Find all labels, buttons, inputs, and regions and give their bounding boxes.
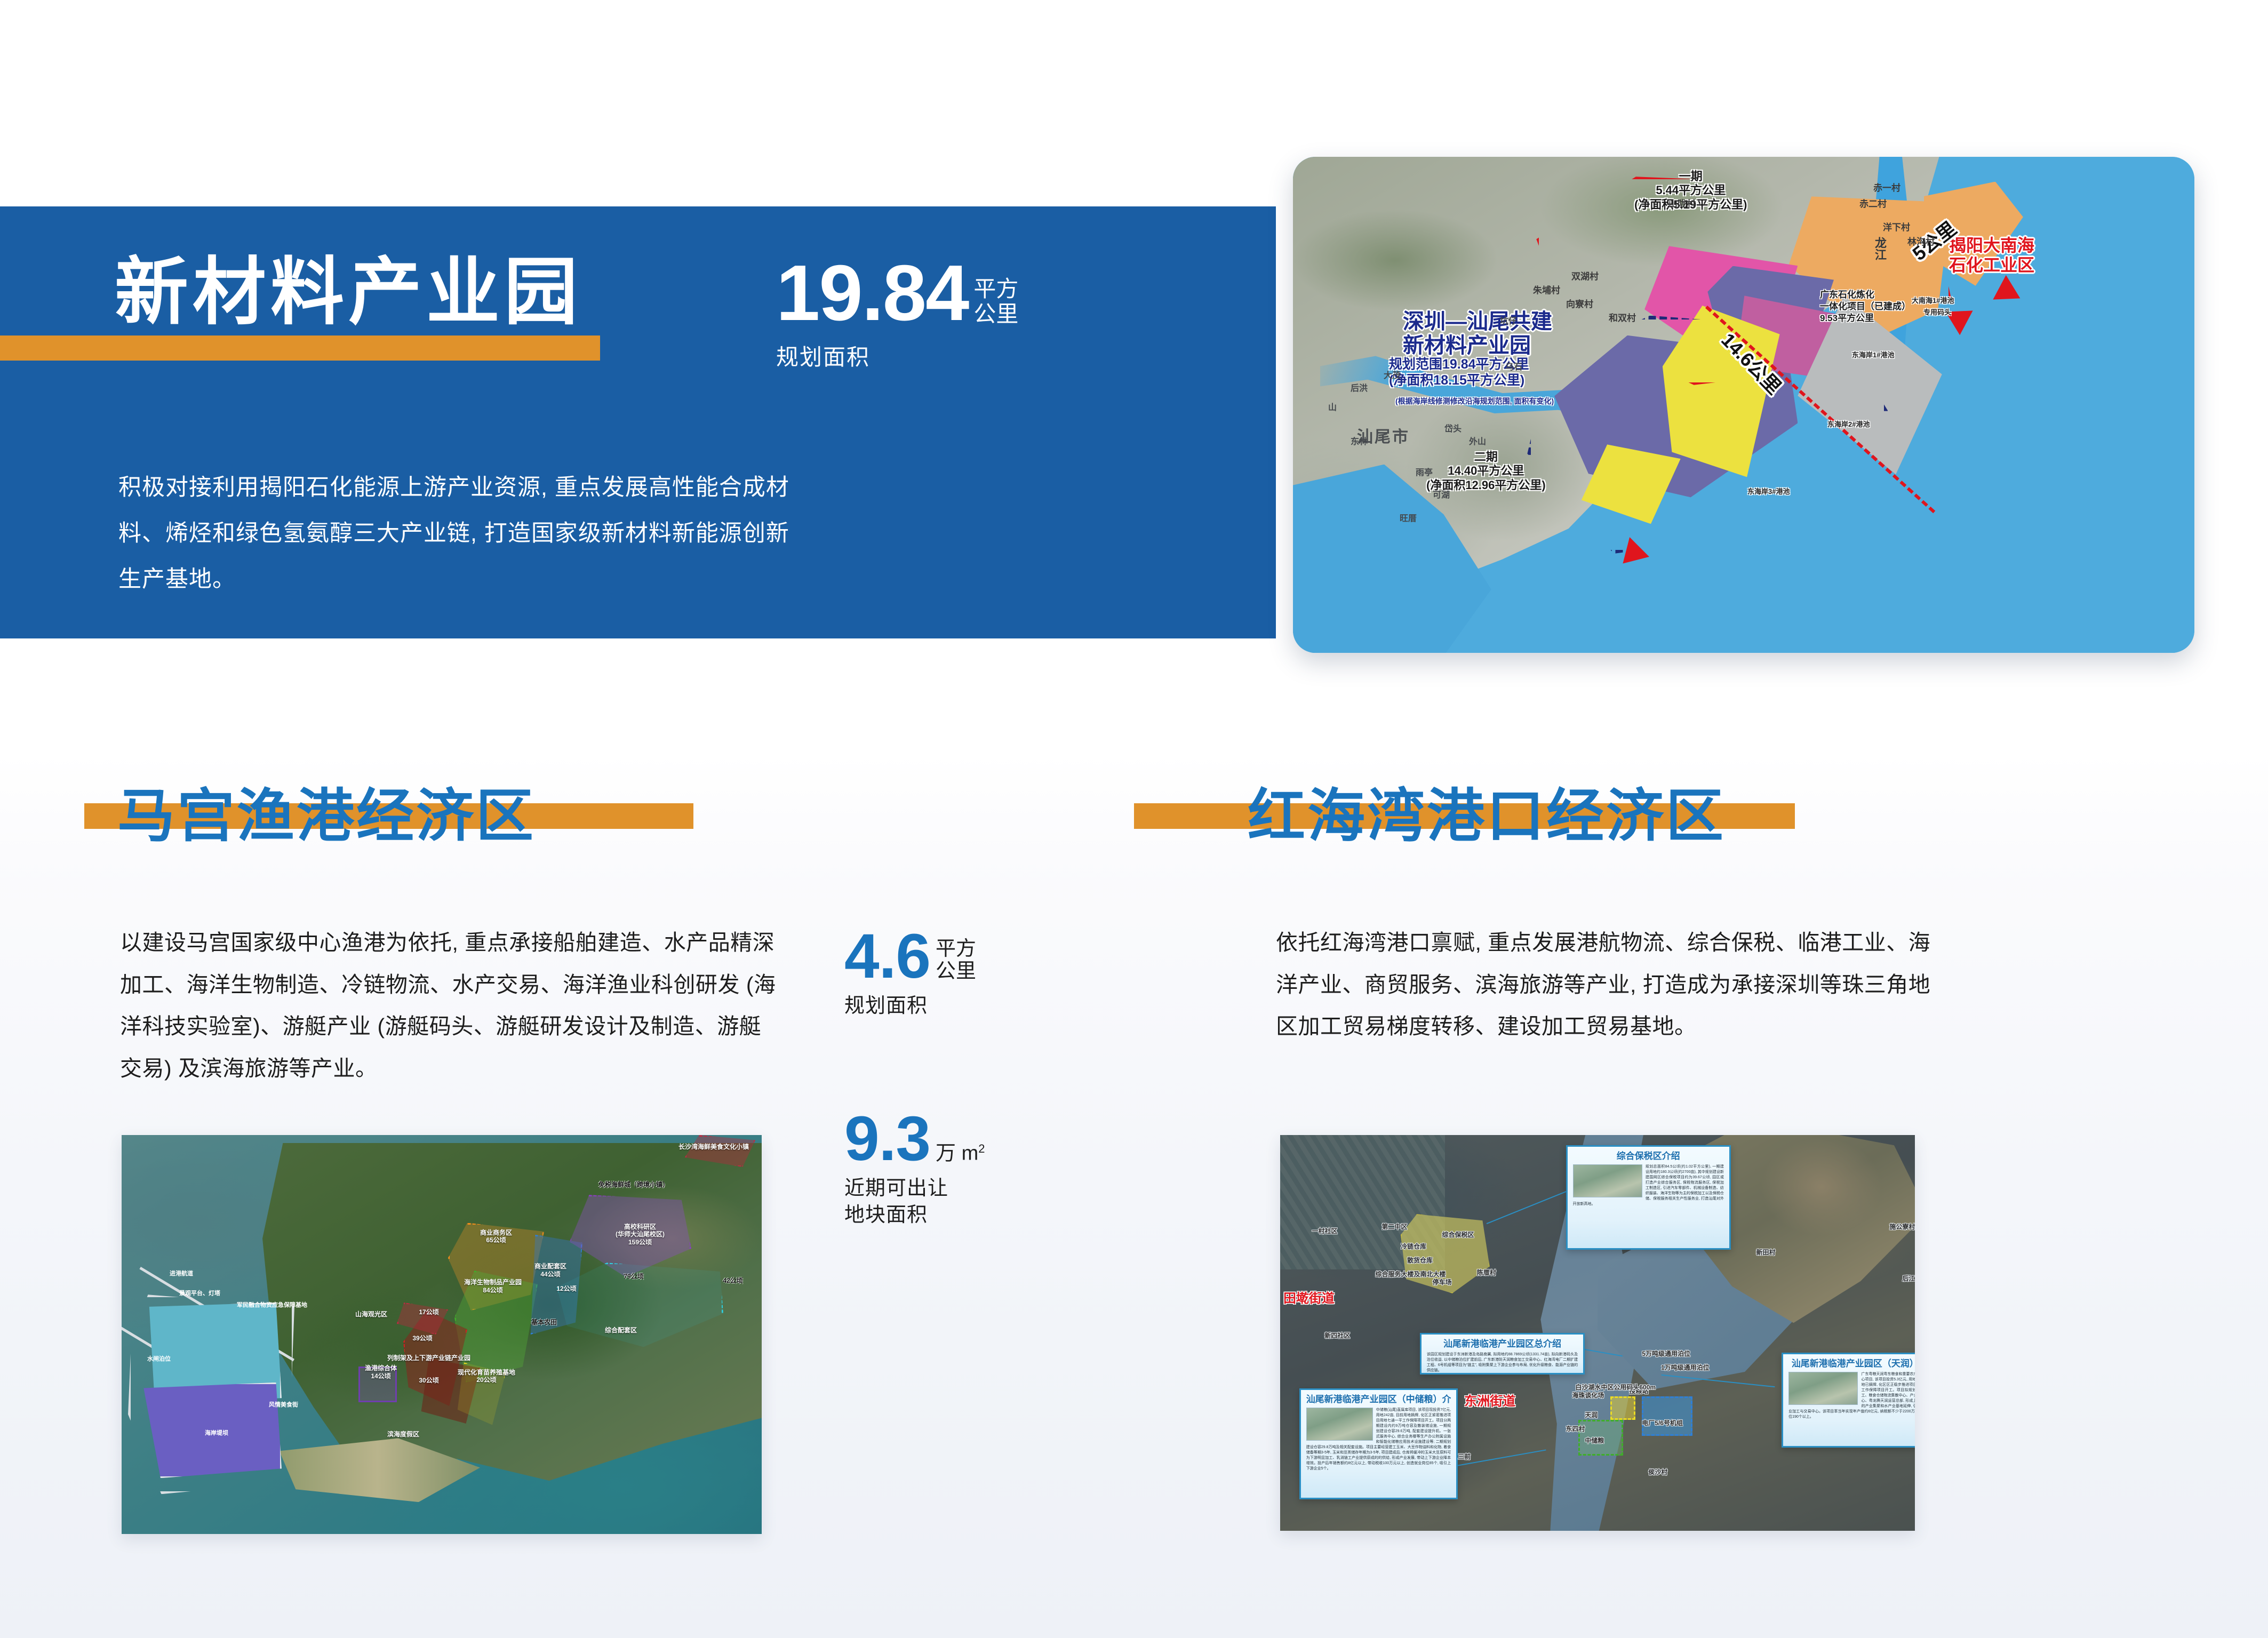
map-zone-label: 基本农田	[512, 1319, 576, 1327]
map-zone-label: 海洋生物制品产业园 84公顷	[442, 1279, 544, 1294]
map-label-village: 赤二村	[1859, 196, 1887, 210]
map-facility-label: 停车场	[1433, 1277, 1452, 1287]
map-zone-label: 山海观光区	[339, 1311, 403, 1319]
map-village-label: 陈厝村	[1477, 1268, 1496, 1277]
honghaiwan-plan-map[interactable]: 综合保税区介绍 规划总面积84.5公顷(约1.02平方公里), 一期建设用地约1…	[1280, 1135, 1915, 1531]
map-village-label: 新四社区	[1324, 1331, 1350, 1340]
stat-caption: 规划面积	[844, 993, 976, 1019]
petrochem-line2: 石化工业区	[1949, 255, 2034, 275]
map-zone-label: 列制架及上下游产业链产业园	[384, 1354, 474, 1362]
map-label-village: 洋下村	[1883, 220, 1910, 233]
zone-power-plant	[1642, 1396, 1692, 1436]
map-label-main-title: 深圳—汕尾共建 新材料产业园	[1403, 310, 1552, 358]
map-zone-label: 高校科研区 (华师大汕尾校区) 159公顷	[582, 1223, 698, 1247]
map-label-place: 山	[1328, 400, 1337, 413]
map-label-petrochem-zone: 揭阳大南海 石化工业区	[1949, 236, 2034, 275]
refinery-line1: 广东石化炼化	[1820, 290, 1874, 300]
section-heading-magong: 马宫渔港经济区	[0, 741, 773, 848]
map-label-place: 后洪	[1351, 381, 1368, 394]
stat-available-land-magong: 9.3 万 m2 近期可出让 地块面积	[844, 1109, 985, 1228]
map-village-label: 东四村	[1566, 1424, 1585, 1433]
map-other-label: 长沙湾海鲜美食文化小镇	[672, 1143, 755, 1151]
refinery-line3: 9.53平方公里	[1820, 313, 1874, 323]
info-card-title: 汕尾新港临港产业园区（中储粮）介绍	[1306, 1394, 1451, 1405]
map-facility-label: 综合保税区	[1442, 1230, 1474, 1239]
hero-stat-block: 19.84 平方 公里 规划面积	[776, 254, 1149, 372]
map-zone-label: 17公顷	[406, 1308, 451, 1316]
hero-title-block: 新材料产业园	[115, 255, 861, 389]
map-label-place: 乌石	[1505, 359, 1522, 372]
map-label-harbor: 东海岸3#港池	[1747, 488, 1790, 496]
map-zone-label: 商业配套区 44公顷	[518, 1263, 582, 1278]
section-body-text: 以建设马宫国家级中心渔港为依托, 重点承接船舶建造、水产品精深加工、海洋生物制造…	[120, 922, 776, 1090]
map-label-village: 和双村	[1609, 310, 1636, 324]
hero-map-canvas: 揭阳大南海 石化工业区 深圳—汕尾共建 新材料产业园 规划范围19.84平方公里…	[1293, 157, 2194, 653]
hero-stat-unit-line2: 公里	[973, 301, 1018, 326]
stat-planned-area-magong: 4.6 平方 公里 规划面积	[844, 927, 976, 1019]
map-village-label: 一村社区	[1312, 1226, 1338, 1235]
map-facility-label: 电厂5/6号机组	[1642, 1418, 1683, 1427]
map-other-label: 进港航道	[170, 1269, 193, 1277]
stat-unit-line2: 公里	[936, 960, 976, 982]
map-facility-label: 海珠谈化场	[1572, 1391, 1604, 1400]
phase2-line1: 二期	[1474, 450, 1498, 464]
map-other-label: 军民融合物资应急保障基地	[237, 1300, 307, 1309]
info-card-sinograin[interactable]: 汕尾新港临港产业园区（中储粮）介绍 中储粮(汕尾)直属库项目, 该项目现投资7亿…	[1299, 1388, 1458, 1499]
phase1-line2: 5.44平方公里	[1656, 183, 1726, 197]
map-label-place: 岱头	[1444, 421, 1462, 434]
map-other-label: 景观平台、灯塔	[179, 1289, 220, 1297]
map-label-harbor: 大南海1#港池	[1912, 297, 1954, 305]
infographic-page: 新材料产业园 19.84 平方 公里 规划面积 积极对接利用揭阳石化能源上游产业…	[0, 0, 2268, 1638]
map-facility-label: 5万吨级通用泊位	[1642, 1349, 1690, 1358]
map-other-label: 免税海鲜城（跨境小镇）	[582, 1181, 685, 1189]
map-label-village: 赤一村	[1873, 180, 1900, 194]
hero-stat-unit-line1: 平方	[973, 276, 1018, 301]
stat-caption: 近期可出让 地块面积	[844, 1175, 985, 1228]
map-zone-label: 综合配套区	[582, 1327, 659, 1335]
hero-map-card[interactable]: 揭阳大南海 石化工业区 深圳—汕尾共建 新材料产业园 规划范围19.84平方公里…	[1293, 157, 2194, 653]
map-label-place: 可湖	[1433, 488, 1450, 500]
map-facility-label: 散货仓库	[1407, 1256, 1433, 1265]
hero-stat-unit: 平方 公里	[973, 276, 1018, 332]
stat-value: 4.6	[844, 927, 930, 986]
map-label-place: 外山	[1469, 434, 1486, 447]
map-facility-label: 1万吨级通用泊位	[1661, 1363, 1710, 1372]
main-sub-line2: (净面积18.15平方公里)	[1389, 373, 1524, 388]
map-zone-label: 12公顷	[547, 1285, 586, 1293]
map-other-label: 水闸泊位	[147, 1354, 171, 1363]
refinery-line2: 一体化项目（已建成）	[1820, 301, 1911, 311]
map-facility-label: 中储粮	[1585, 1436, 1604, 1445]
hero-panel: 新材料产业园 19.84 平方 公里 规划面积 积极对接利用揭阳石化能源上游产业…	[0, 206, 1276, 638]
map-label-phase2: 二期 14.40平方公里 (净面积12.96平方公里)	[1426, 450, 1546, 492]
info-card-body: 该园区规划建设于东洲新港及岛路南翼, 拟用地约88.7869公顷(1331.74…	[1427, 1352, 1578, 1373]
info-card-title: 综合保税区介绍	[1573, 1151, 1724, 1162]
map-label-harbor: 东海岸1#港池	[1852, 351, 1894, 359]
map-street-label: 田墘街道	[1283, 1288, 1335, 1306]
info-card-photo	[1573, 1164, 1642, 1197]
stat-unit: 万 m2	[936, 1142, 985, 1168]
magong-plan-map[interactable]: 商业商务区 65公顷 海洋生物制品产业园 84公顷 商业配套区 44公顷 高校科…	[122, 1135, 762, 1534]
map-village-label: 侯沙村	[1648, 1467, 1667, 1476]
map-village-label: 新田村	[1756, 1248, 1776, 1257]
map-facility-label: 白沙湖水中区公用码头600m	[1575, 1383, 1656, 1392]
map-street-label: 东洲街道	[1464, 1391, 1515, 1409]
map-zone-label: 商业商务区 65公顷	[458, 1229, 534, 1244]
map-label-place: 东林	[1351, 434, 1368, 447]
stat-unit: 平方 公里	[936, 938, 976, 986]
stat-unit-superscript: 2	[978, 1142, 985, 1155]
map-label-refinery: 广东石化炼化 一体化项目（已建成） 9.53平方公里	[1820, 289, 1911, 324]
map-label-place: 雨亭	[1416, 465, 1433, 478]
phase1-line1: 一期	[1679, 170, 1703, 183]
map-other-label: 风情美食街	[269, 1400, 298, 1409]
hero-stat-value: 19.84	[776, 254, 968, 332]
map-zone-label: 79公顷	[611, 1273, 656, 1281]
map-village-label: 三前	[1458, 1452, 1471, 1461]
section-title: 马宫渔港经济区	[117, 787, 536, 845]
info-card-port-industrial-overview[interactable]: 汕尾新港临港产业园区总介绍 该园区规划建设于东洲新港及岛路南翼, 拟用地约88.…	[1420, 1333, 1585, 1375]
map-facility-label: 冷链仓库	[1401, 1242, 1426, 1251]
map-zone-label: 42公顷	[710, 1277, 755, 1285]
phase2-line2: 14.40平方公里	[1448, 464, 1524, 477]
map-zone-label: 39公顷	[397, 1335, 448, 1343]
hero-accent-bar	[0, 335, 600, 361]
map-label-village: 山陇村	[1668, 196, 1696, 210]
map-label-harbor: 专用码头	[1923, 308, 1951, 317]
map-village-label: 施公寮村	[1889, 1222, 1915, 1231]
info-card-tianrun[interactable]: 汕尾新港临港产业园区（天润）介绍 广东粤粮天润粤东粮食和重要农产品应急保障中心项…	[1782, 1353, 1915, 1448]
section-title: 红海湾港口经济区	[1248, 787, 1726, 845]
stat-value: 9.3	[844, 1109, 930, 1169]
map-label-village: 朱埔村	[1533, 283, 1560, 296]
map-label-main-note: (根据海岸线修测修改沿海规划范围, 面积有变化)	[1395, 396, 1554, 406]
stat-caption-line1: 近期可出让	[844, 1177, 948, 1200]
stat-unit-text: 万 m	[936, 1142, 978, 1165]
map-other-label: 滨海度假区	[365, 1431, 442, 1439]
info-card-photo	[1788, 1372, 1858, 1405]
info-card-photo	[1306, 1408, 1373, 1441]
main-title-line2: 新材料产业园	[1403, 334, 1531, 357]
section-heading-honghaiwan: 红海湾港口经济区	[1120, 741, 1894, 848]
info-card-bonded-zone[interactable]: 综合保税区介绍 规划总面积84.5公顷(约1.02平方公里), 一期建设用地约1…	[1566, 1145, 1731, 1250]
map-label-place: 旺厝	[1400, 511, 1417, 524]
hero-title: 新材料产业园	[115, 255, 861, 329]
info-card-title: 汕尾新港临港产业园区（天润）介绍	[1788, 1359, 1915, 1369]
map-label-harbor: 东海岸2#港池	[1827, 420, 1870, 429]
map-label-village: 向寮村	[1566, 297, 1593, 310]
stat-unit-line1: 平方	[936, 938, 976, 960]
map-zone-label: 渔港综合体 14公顷	[352, 1364, 410, 1380]
map-label-village: 双湖村	[1571, 269, 1599, 282]
stat-caption-line2: 地块面积	[844, 1204, 928, 1226]
info-card-title: 汕尾新港临港产业园区总介绍	[1427, 1339, 1578, 1349]
map-label-village: 林沟村	[1907, 234, 1935, 247]
map-facility-label: 天润	[1585, 1410, 1598, 1419]
section-body-text: 依托红海湾港口禀赋, 重点发展港航物流、综合保税、临港工业、海洋产业、商贸服务、…	[1276, 922, 1932, 1048]
main-title-line1: 深圳—汕尾共建	[1403, 310, 1552, 333]
map-other-label: 海岸堤坝	[205, 1428, 228, 1437]
petrochem-line1: 揭阳大南海	[1949, 236, 2034, 255]
hero-stat-caption: 规划面积	[776, 339, 1149, 372]
map-label-place: 大茂	[1384, 368, 1401, 381]
map-label-place: 坑仔	[1500, 314, 1517, 326]
map-label-river: 龙江	[1871, 237, 1888, 260]
map-village-label: 第二中区	[1381, 1222, 1407, 1231]
hero-body-text: 积极对接利用揭阳石化能源上游产业资源, 重点发展高性能合成材料、烯烃和绿色氢氨醇…	[118, 465, 790, 602]
map-zone-label: 现代化育苗养殖基地 20公顷	[442, 1369, 531, 1384]
zone-tianrun	[1610, 1396, 1636, 1420]
map-village-label: 后江东岛	[1902, 1274, 1915, 1283]
